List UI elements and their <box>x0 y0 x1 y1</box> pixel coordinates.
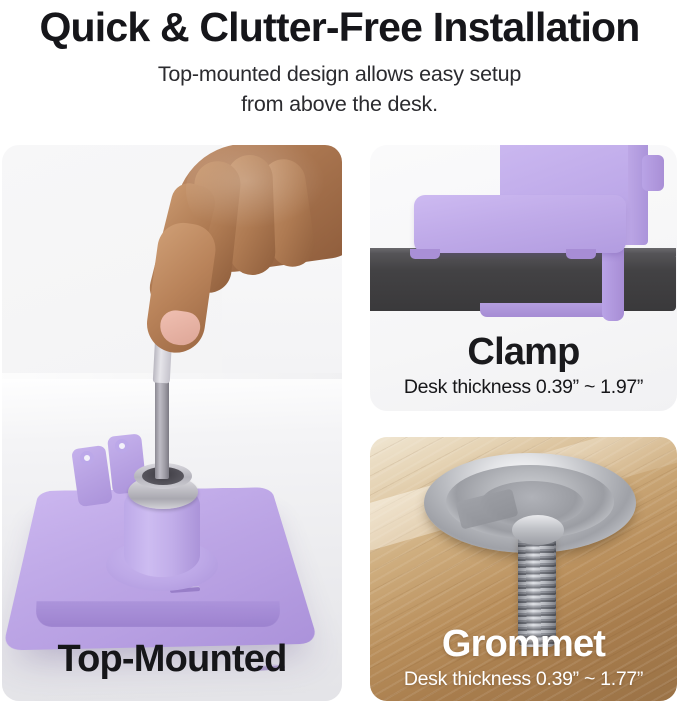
page-subtitle-line-2: from above the desk. <box>0 89 679 119</box>
clamp-knob <box>642 155 664 191</box>
panel-clamp[interactable]: Clamp Desk thickness 0.39” ~ 1.97” <box>370 145 677 411</box>
caption-title: Clamp <box>370 330 677 374</box>
hand-illustration <box>130 145 342 403</box>
caption-title: Top-Mounted <box>2 638 342 681</box>
caption-spec: Desk thickness 0.39” ~ 1.97” <box>370 376 677 399</box>
grommet-bolt-hub <box>512 515 564 545</box>
clamp-foot-pad <box>566 249 596 259</box>
clamp-lower-jaw <box>602 241 624 321</box>
page-subtitle-line-1: Top-mounted design allows easy setup <box>0 59 679 89</box>
bracket-hole-icon <box>80 451 94 465</box>
clamp-body <box>414 195 626 253</box>
caption-clamp: Clamp Desk thickness 0.39” ~ 1.97” <box>370 330 677 399</box>
clamp-under-pad <box>480 303 610 317</box>
clamp-upright-block <box>500 145 628 201</box>
caption-grommet: Grommet Desk thickness 0.39” ~ 1.77” <box>370 622 677 691</box>
bracket-hole-icon <box>115 439 129 453</box>
caption-top-mounted: Top-Mounted <box>2 638 342 681</box>
panel-grid: Top-Mounted Clamp Desk thickness 0.39” ~… <box>0 143 679 703</box>
panel-top-mounted[interactable]: Top-Mounted <box>2 145 342 701</box>
page-subtitle: Top-mounted design allows easy setup fro… <box>0 59 679 119</box>
clamp-foot-pad <box>410 249 440 259</box>
caption-title: Grommet <box>370 622 677 666</box>
caption-spec: Desk thickness 0.39” ~ 1.77” <box>370 668 677 691</box>
page-title: Quick & Clutter-Free Installation <box>0 2 679 52</box>
page-header: Quick & Clutter-Free Installation Top-mo… <box>0 0 679 119</box>
hand-highlight <box>186 145 336 235</box>
panel-grommet[interactable]: Grommet Desk thickness 0.39” ~ 1.77” <box>370 437 677 701</box>
mount-base-plate-side <box>35 601 280 627</box>
